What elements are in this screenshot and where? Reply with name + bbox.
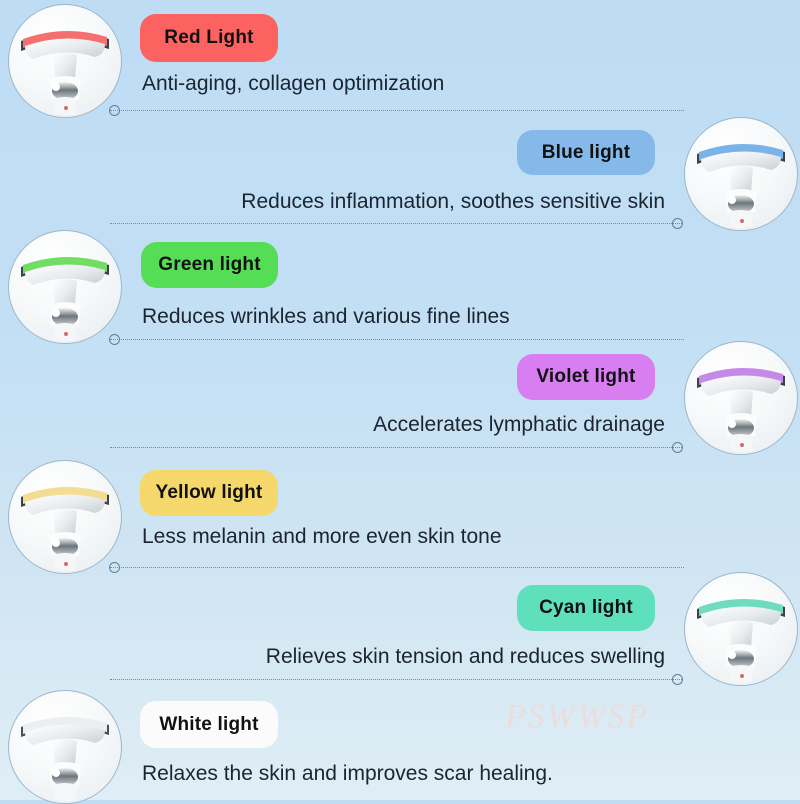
badge-red-light[interactable]: Red Light — [140, 14, 278, 62]
connector-dot-left — [109, 105, 120, 116]
connector-line-3 — [110, 334, 684, 345]
product-image-red — [8, 4, 122, 118]
description-violet-light: Accelerates lymphatic drainage — [373, 413, 665, 437]
product-image-green — [8, 230, 122, 344]
neck-beauty-device-icon — [9, 5, 121, 117]
dotted-line — [110, 679, 682, 680]
badge-cyan-light[interactable]: Cyan light — [517, 585, 655, 631]
product-image-violet — [684, 341, 798, 455]
badge-blue-light[interactable]: Blue light — [517, 130, 655, 175]
connector-dot-left — [109, 334, 120, 345]
product-image-yellow — [8, 460, 122, 574]
connector-dot-right — [672, 674, 683, 685]
badge-label: Yellow light — [156, 482, 263, 504]
neck-beauty-device-icon — [9, 691, 121, 803]
badge-label: Cyan light — [539, 597, 633, 619]
dotted-line — [110, 223, 682, 224]
description-cyan-light: Relieves skin tension and reduces swelli… — [266, 645, 665, 669]
badge-label: Red Light — [164, 27, 253, 49]
connector-line-5 — [110, 562, 684, 573]
badge-violet-light[interactable]: Violet light — [517, 354, 655, 400]
neck-beauty-device-icon — [9, 461, 121, 573]
connector-line-1 — [110, 105, 684, 116]
badge-label: Violet light — [536, 366, 635, 388]
description-blue-light: Reduces inflammation, soothes sensitive … — [241, 190, 665, 214]
product-image-blue — [684, 117, 798, 231]
badge-label: Blue light — [542, 142, 631, 164]
description-green-light: Reduces wrinkles and various fine lines — [142, 305, 510, 329]
connector-dot-left — [109, 562, 120, 573]
product-image-white — [8, 690, 122, 804]
neck-beauty-device-icon — [685, 342, 797, 454]
badge-green-light[interactable]: Green light — [141, 242, 278, 288]
connector-line-4 — [110, 442, 682, 453]
dotted-line — [110, 567, 684, 568]
description-red-light: Anti-aging, collagen optimization — [142, 72, 444, 96]
description-white-light: Relaxes the skin and improves scar heali… — [142, 762, 553, 786]
connector-line-6 — [110, 674, 682, 685]
product-image-cyan — [684, 572, 798, 686]
connector-line-2 — [110, 218, 682, 229]
badge-white-light[interactable]: White light — [140, 701, 278, 748]
dotted-line — [110, 447, 682, 448]
badge-label: Green light — [158, 254, 261, 276]
infographic-canvas: PSWWSP Red Light Anti-aging, co — [0, 0, 800, 800]
neck-beauty-device-icon — [9, 231, 121, 343]
watermark-text: PSWWSP — [505, 698, 649, 736]
dotted-line — [110, 110, 684, 111]
dotted-line — [110, 339, 684, 340]
badge-yellow-light[interactable]: Yellow light — [140, 470, 278, 516]
connector-dot-right — [672, 218, 683, 229]
badge-label: White light — [159, 714, 258, 736]
neck-beauty-device-icon — [685, 573, 797, 685]
description-yellow-light: Less melanin and more even skin tone — [142, 525, 502, 549]
neck-beauty-device-icon — [685, 118, 797, 230]
connector-dot-right — [672, 442, 683, 453]
